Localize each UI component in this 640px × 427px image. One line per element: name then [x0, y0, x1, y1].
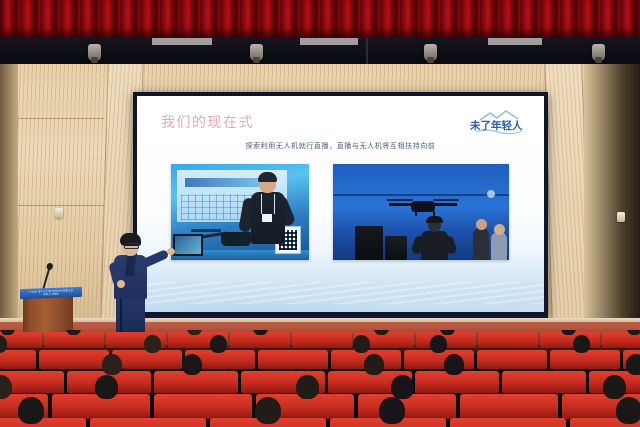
pointing-hand	[167, 248, 175, 255]
audience-member	[95, 375, 118, 399]
audience-member	[102, 354, 122, 375]
audience-seat	[477, 350, 547, 369]
slide-title: 我们的现在式	[161, 112, 254, 132]
lectern-body	[29, 297, 73, 334]
bystander-person	[491, 232, 507, 260]
audience-member	[430, 335, 447, 353]
audience-member	[144, 335, 161, 353]
ceiling-light-strip	[488, 38, 542, 45]
audience-seat	[478, 332, 538, 348]
spotlight-icon	[424, 44, 437, 61]
drone-flight-photo	[333, 164, 509, 260]
audience-member	[444, 354, 464, 375]
audience-seat	[112, 350, 182, 369]
stage-light-icon	[487, 190, 495, 198]
audience-member	[626, 354, 640, 375]
drone-operator-person	[417, 218, 451, 260]
audience-seat	[39, 350, 109, 369]
audience-seat	[258, 350, 328, 369]
bystander-person	[473, 228, 489, 260]
projection-screen: 我们的现在式 探索利用无人机就行直播，直播与无人机将互相扶持向前 未了年轻人	[137, 96, 544, 312]
audience-member	[364, 354, 384, 375]
ceiling-light-strip	[300, 38, 358, 45]
audience-area	[0, 330, 640, 427]
lectern-sign-line-2: 青年人才驿站	[43, 293, 59, 297]
spotlight-icon	[250, 44, 263, 61]
audience-seat	[90, 418, 206, 427]
audience-seat	[450, 418, 566, 427]
audience-member	[296, 375, 319, 399]
wall-fixture-icon	[617, 212, 625, 222]
company-logo: 未了年轻人	[466, 108, 530, 138]
audience-member	[379, 397, 405, 424]
audience-member	[255, 397, 281, 424]
wall-panel-right	[544, 64, 589, 322]
presenter-hand	[117, 280, 125, 288]
audience-member	[182, 354, 202, 375]
stage-speaker-box	[355, 226, 383, 260]
audience-seat	[460, 394, 558, 419]
ceiling-light-strip	[152, 38, 212, 45]
slide-subtitle: 探索利用无人机就行直播，直播与无人机将互相扶持向前	[137, 141, 544, 151]
flying-drone-icon	[389, 196, 457, 216]
booth-monitor	[173, 234, 203, 256]
audience-seat	[502, 371, 586, 393]
audience-seat	[0, 350, 36, 369]
audience-member	[391, 375, 414, 399]
auditorium-scene: 我们的现在式 探索利用无人机就行直播，直播与无人机将互相扶持向前 未了年轻人	[0, 0, 640, 427]
audience-seat	[550, 350, 620, 369]
audience-member	[353, 335, 370, 353]
booth-staff-person	[247, 174, 289, 258]
audience-member	[603, 375, 626, 399]
presenter	[106, 236, 172, 334]
spotlight-icon	[592, 44, 605, 61]
wall-fixture-icon	[55, 208, 63, 218]
audience-member	[210, 335, 227, 353]
glasses-icon	[124, 243, 139, 249]
wall-edge-right	[584, 64, 640, 322]
stage-speaker-box	[385, 236, 407, 260]
leg-seam	[120, 297, 122, 334]
audience-seat	[154, 394, 252, 419]
wall-edge-left	[0, 64, 18, 322]
audience-seat	[292, 332, 352, 348]
audience-member	[573, 335, 590, 353]
lectern: 广东省“百千万工程”青年兴乡培育计划 青年人才驿站	[20, 288, 82, 334]
spotlight-icon	[88, 44, 101, 61]
svg-text:未了年轻人: 未了年轻人	[469, 119, 523, 132]
audience-member	[18, 397, 44, 424]
exhibition-booth-photo	[171, 164, 309, 260]
audience-member	[616, 397, 640, 424]
audience-seat	[0, 418, 86, 427]
